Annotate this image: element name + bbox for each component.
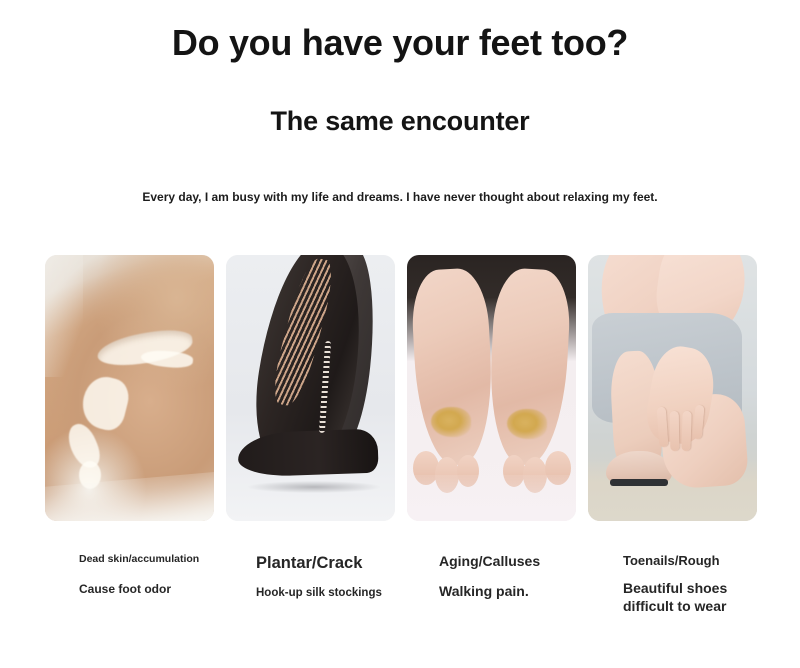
gallery-tile-dead-skin[interactable]	[45, 255, 214, 521]
floor-shadow	[248, 481, 380, 493]
sheer-black-stocking-leg-photo	[226, 255, 395, 521]
sheet-highlight-bottom	[45, 470, 214, 521]
caption-primary-label: Plantar/Crack	[256, 553, 395, 574]
intro-paragraph: Every day, I am busy with my life and dr…	[0, 188, 800, 206]
finger-shape	[681, 411, 691, 451]
callus-spot	[431, 407, 471, 437]
caption-secondary-label: Cause foot odor	[79, 582, 214, 597]
sheet-highlight-left	[45, 255, 83, 377]
woman-massaging-ankle-photo	[588, 255, 757, 521]
caption-toenails-rough: Toenails/Rough Beautiful shoes difficult…	[588, 553, 757, 615]
page-title: Do you have your feet too?	[0, 22, 800, 64]
caption-dead-skin: Dead skin/accumulation Cause foot odor	[45, 553, 214, 615]
finger-shape	[670, 411, 680, 451]
photo-gallery	[45, 255, 757, 521]
caption-primary-label: Aging/Calluses	[439, 553, 576, 571]
gallery-tile-plantar-crack[interactable]	[226, 255, 395, 521]
caption-plantar-crack: Plantar/Crack Hook-up silk stockings	[226, 553, 395, 615]
caption-primary-label: Dead skin/accumulation	[79, 553, 214, 566]
caption-secondary-label: Hook-up silk stockings	[256, 586, 395, 600]
caption-secondary-label: Beautiful shoes difficult to wear	[623, 580, 751, 615]
shoe-sole	[610, 479, 668, 486]
skin-flake	[77, 372, 132, 433]
gallery-tile-calluses[interactable]	[407, 255, 576, 521]
caption-primary-label: Toenails/Rough	[623, 553, 757, 569]
skin-flake	[140, 348, 193, 369]
callus-spot	[507, 409, 547, 439]
dry-peeling-heel-photo	[45, 255, 214, 521]
caption-secondary-label: Walking pain.	[439, 583, 576, 601]
promo-page: Do you have your feet too? The same enco…	[0, 0, 800, 668]
page-subtitle: The same encounter	[0, 105, 800, 137]
gallery-tile-toenails-rough[interactable]	[588, 255, 757, 521]
white-cloth-background	[407, 475, 576, 521]
caption-calluses: Aging/Calluses Walking pain.	[407, 553, 576, 615]
caption-row: Dead skin/accumulation Cause foot odor P…	[45, 553, 757, 615]
soles-with-calluses-photo	[407, 255, 576, 521]
